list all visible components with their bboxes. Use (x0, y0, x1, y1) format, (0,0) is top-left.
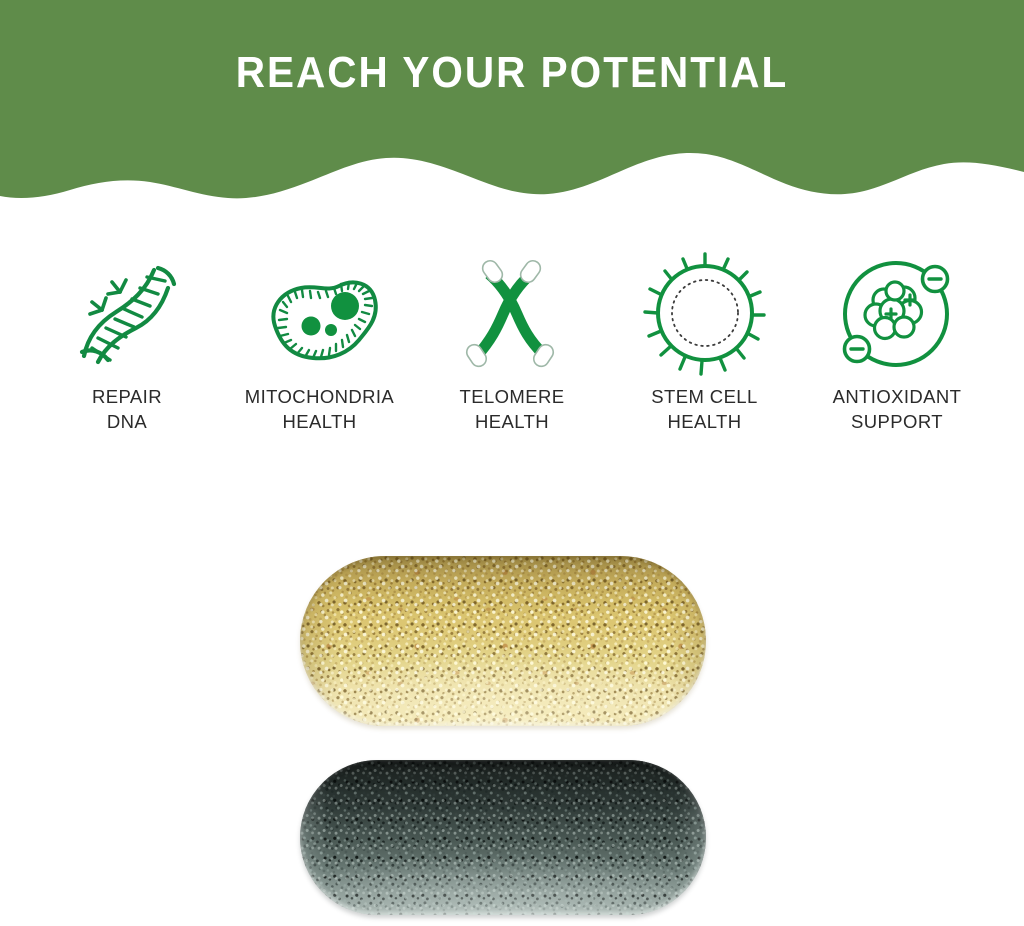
benefit-label: STEM CELL HEALTH (651, 384, 757, 434)
benefit-item-stem-cell-health[interactable]: STEM CELL HEALTH (610, 248, 800, 434)
chromosome-telomere-icon (447, 248, 577, 378)
infographic-page: REACH YOUR POTENTIAL (0, 0, 1024, 926)
benefit-label: TELOMERE HEALTH (460, 384, 565, 434)
product-pill-dark (300, 760, 706, 915)
pill-rim (300, 556, 706, 726)
stem-cell-icon (640, 248, 770, 378)
benefit-item-telomere-health[interactable]: TELOMERE HEALTH (417, 248, 607, 434)
product-pill-yellow (300, 556, 706, 726)
pill-rim (300, 760, 706, 915)
benefit-label: ANTIOXIDANT SUPPORT (833, 384, 962, 434)
benefit-item-repair-dna[interactable]: REPAIR DNA (32, 248, 222, 434)
benefits-row: REPAIR DNA (32, 248, 992, 458)
benefit-item-antioxidant-support[interactable]: ANTIOXIDANT SUPPORT (802, 248, 992, 434)
benefit-item-mitochondria-health[interactable]: MITOCHONDRIA HEALTH (225, 248, 415, 434)
benefit-label: MITOCHONDRIA HEALTH (245, 384, 394, 434)
header-banner: REACH YOUR POTENTIAL (0, 0, 1024, 200)
atom-antioxidant-icon (832, 248, 962, 378)
header-wave-divider (0, 120, 1024, 200)
mitochondria-icon (255, 248, 385, 378)
benefit-label: REPAIR DNA (92, 384, 162, 434)
page-title: REACH YOUR POTENTIAL (41, 48, 983, 98)
dna-helix-icon (62, 248, 192, 378)
